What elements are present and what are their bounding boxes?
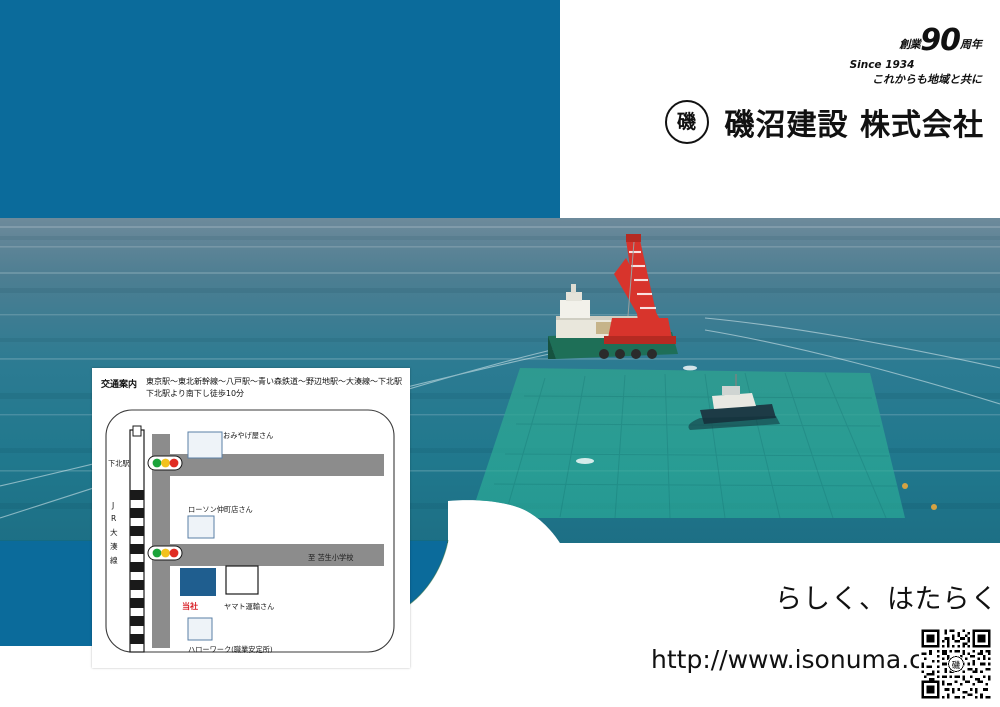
- access-route-text: 東京駅〜東北新幹線〜八戸駅〜青い森鉄道〜野辺地駅〜大湊線〜下北駅 下北駅より南下…: [146, 376, 402, 399]
- access-route-line2: 下北駅より南下し徒歩10分: [146, 388, 402, 400]
- svg-text:線: 線: [110, 555, 118, 565]
- tagline-block: らしく、はたらく AOMORI: [775, 568, 1000, 624]
- access-map-header: 交通案内 東京駅〜東北新幹線〜八戸駅〜青い森鉄道〜野辺地駅〜大湊線〜下北駅 下北…: [92, 368, 410, 399]
- anniversary-badge: 創業90周年 Since 1934 これからも地域と共に: [792, 26, 982, 85]
- anniversary-subtitle: これからも地域と共に: [792, 74, 982, 85]
- seal-char: 磯: [677, 113, 696, 132]
- svg-text:大: 大: [110, 527, 118, 537]
- anniversary-since: Since 1934: [792, 60, 982, 71]
- company-seal-icon: 磯: [665, 100, 709, 144]
- map-label-station: 下北駅: [108, 459, 130, 468]
- traffic-signal-north: [148, 456, 182, 470]
- map-label-yamato: ヤマト運輸さん: [224, 602, 274, 611]
- map-label-hellowork: ハローワーク(職業安定所): [188, 645, 273, 654]
- access-map-title: 交通案内: [101, 376, 137, 399]
- poster-page: 創業90周年 Since 1934 これからも地域と共に 磯 磯沼建設 株式会社: [0, 0, 1000, 707]
- company-name: 磯沼建設 株式会社: [725, 100, 984, 144]
- svg-text:湊: 湊: [110, 541, 118, 551]
- anniversary-prefix: 創業: [899, 38, 920, 51]
- map-label-to-school: 至 苫生小学校: [308, 553, 353, 562]
- anniversary-suffix: 周年: [960, 38, 982, 51]
- tagline-text: らしく、はたらく: [775, 577, 998, 616]
- anniversary-number: 90: [920, 23, 960, 58]
- traffic-signal-south: [148, 546, 182, 560]
- access-map-card: 交通案内 東京駅〜東北新幹線〜八戸駅〜青い森鉄道〜野辺地駅〜大湊線〜下北駅 下北…: [92, 368, 410, 668]
- map-label-our-company: 当社: [182, 601, 198, 611]
- svg-text:磯: 磯: [952, 660, 961, 670]
- access-route-line1: 東京駅〜東北新幹線〜八戸駅〜青い森鉄道〜野辺地駅〜大湊線〜下北駅: [146, 376, 402, 388]
- svg-text:R: R: [111, 514, 117, 523]
- access-map-diagram: 下北駅 おみやげ屋さん ローソン仲町店さん 至 苫生小学校 当社 ヤマト運輸さん…: [92, 404, 410, 666]
- company-lockup: 磯 磯沼建設 株式会社: [665, 100, 984, 144]
- anniversary-main: 創業90周年: [792, 26, 982, 56]
- map-label-lawson: ローソン仲町店さん: [188, 505, 253, 514]
- header-blue-panel: [0, 0, 560, 218]
- map-label-souvenir: おみやげ屋さん: [223, 431, 273, 440]
- svg-text:J: J: [111, 501, 114, 510]
- qr-code[interactable]: 磯: [919, 627, 993, 701]
